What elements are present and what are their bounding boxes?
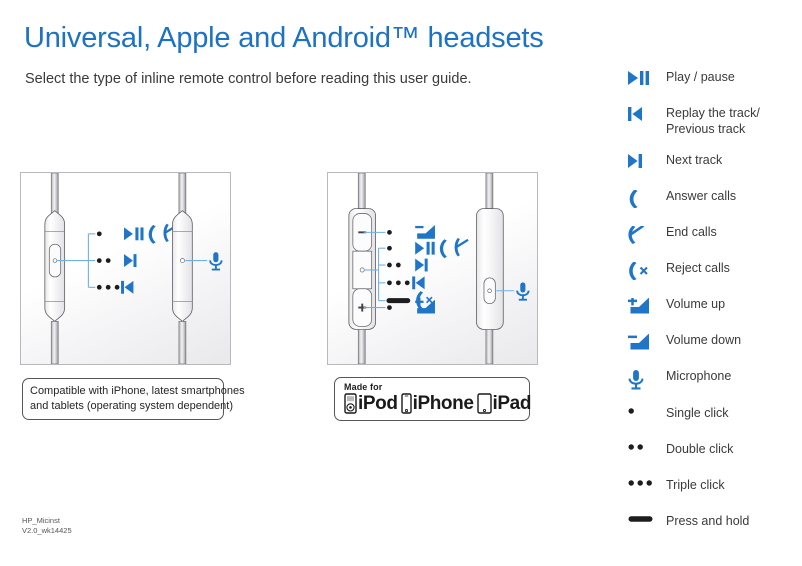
volume-up-icon [628, 297, 666, 315]
press-hold-icon [628, 514, 666, 523]
iphone-icon [401, 393, 412, 414]
double-click-icon [628, 442, 666, 451]
made-for-label: Made for [344, 382, 529, 392]
legend-item-volume-down: Volume down [628, 333, 796, 353]
page-title: Universal, Apple and Android™ headsets [24, 22, 544, 55]
legend-panel: Play / pause Replay the track/ Previous … [628, 70, 796, 550]
footer-line-2: V2.0_wk14425 [22, 526, 72, 536]
legend-label-answer-calls: Answer calls [666, 189, 736, 205]
legend-label-triple-click: Triple click [666, 478, 725, 494]
legend-item-answer-calls: Answer calls [628, 189, 796, 209]
legend-item-microphone: Microphone [628, 369, 796, 390]
answer-call-icon [628, 189, 666, 208]
apple-remote-illustration [328, 173, 537, 364]
legend-label-play-pause: Play / pause [666, 70, 735, 86]
ipad-icon [477, 393, 492, 414]
legend-item-double-click: Double click [628, 442, 796, 462]
left-remote-row3-icons [121, 281, 133, 294]
microphone-icon [210, 252, 221, 270]
microphone-icon [517, 282, 528, 300]
universal-remote-panel [20, 172, 231, 365]
legend-item-triple-click: Triple click [628, 478, 796, 498]
apple-remote-click-dots [386, 230, 410, 310]
apple-remote-action-icons [412, 225, 468, 314]
legend-label-previous-track: Replay the track/ Previous track [666, 106, 760, 137]
ipod-icon [344, 393, 357, 414]
page-subtitle: Select the type of inline remote control… [25, 71, 472, 87]
made-for-apple-badge: Made for iPod iPhone iPad [334, 377, 530, 421]
legend-label-volume-down: Volume down [666, 333, 741, 349]
legend-label-end-calls: End calls [666, 225, 717, 241]
legend-item-single-click: Single click [628, 406, 796, 426]
left-remote-row2-icons [124, 254, 136, 267]
apple-right-mic-graphic [477, 173, 504, 364]
legend-label-double-click: Double click [666, 442, 733, 458]
made-for-ipod: iPod [344, 393, 398, 414]
triple-click-icon [628, 478, 666, 487]
legend-item-press-and-hold: Press and hold [628, 514, 796, 534]
apple-left-remote-graphic [349, 173, 376, 364]
legend-label-single-click: Single click [666, 406, 729, 422]
legend-item-reject-calls: Reject calls [628, 261, 796, 281]
reject-call-icon [628, 261, 666, 280]
legend-item-next-track: Next track [628, 153, 796, 173]
previous-track-icon [628, 106, 666, 121]
left-remote-click-dots [97, 231, 120, 289]
caption-line-1: Compatible with iPhone, latest smartphon… [30, 384, 216, 399]
made-for-iphone: iPhone [401, 393, 474, 414]
right-mic-graphic [173, 173, 193, 364]
caption-line-2: and tablets (operating system dependent) [30, 399, 216, 414]
left-remote-row1-icons [124, 224, 177, 244]
apple-remote-panel [327, 172, 538, 365]
single-click-icon [628, 406, 666, 415]
iphone-label: iPhone [413, 394, 474, 414]
made-for-ipad: iPad [477, 393, 532, 414]
legend-label-microphone: Microphone [666, 369, 731, 385]
microphone-icon [628, 369, 666, 390]
volume-plus-glyph [361, 304, 363, 312]
legend-label-volume-up: Volume up [666, 297, 725, 313]
next-track-icon [628, 153, 666, 168]
ipod-label: iPod [358, 394, 398, 414]
legend-item-end-calls: End calls [628, 225, 796, 245]
legend-item-volume-up: Volume up [628, 297, 796, 317]
legend-label-next-track: Next track [666, 153, 722, 169]
footer-line-1: HP_Micinst [22, 516, 72, 526]
legend-item-previous-track: Replay the track/ Previous track [628, 106, 796, 137]
play-pause-icon [628, 70, 666, 85]
end-call-icon [628, 225, 666, 244]
universal-remote-illustration [21, 173, 230, 364]
document-version-footer: HP_Micinst V2.0_wk14425 [22, 516, 72, 535]
press-and-hold-bar [386, 298, 410, 303]
universal-compatibility-caption: Compatible with iPhone, latest smartphon… [22, 378, 224, 420]
legend-label-reject-calls: Reject calls [666, 261, 730, 277]
volume-down-icon [628, 333, 666, 351]
legend-label-press-and-hold: Press and hold [666, 514, 749, 530]
legend-item-play-pause: Play / pause [628, 70, 796, 90]
ipad-label: iPad [493, 394, 532, 414]
left-remote-graphic [45, 173, 65, 364]
